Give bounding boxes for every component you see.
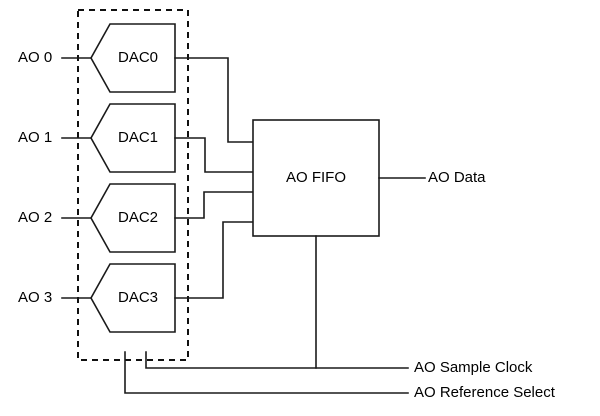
dac3-label: DAC3 (118, 289, 158, 306)
output-port-label-ao-sample-clock: AO Sample Clock (414, 359, 533, 376)
wire-dac2-to-fifo (175, 192, 253, 218)
diagram-canvas: AO 0 AO 1 AO 2 AO 3 DAC0 DAC1 DAC2 DAC3 … (0, 0, 600, 416)
input-port-label-ao2: AO 2 (18, 209, 52, 226)
dac1-label: DAC1 (118, 129, 158, 146)
dac0-label: DAC0 (118, 49, 158, 66)
input-port-label-ao1: AO 1 (18, 129, 52, 146)
output-port-label-ao-data: AO Data (428, 169, 486, 186)
dac2-label: DAC2 (118, 209, 158, 226)
input-port-label-ao3: AO 3 (18, 289, 52, 306)
output-port-label-ao-reference-select: AO Reference Select (414, 384, 556, 401)
wire-dac3-to-fifo (175, 222, 253, 298)
wire-reference-select-bus (125, 352, 408, 393)
wire-dac1-to-fifo (175, 138, 253, 172)
ao-fifo-label: AO FIFO (286, 169, 346, 186)
input-port-label-ao0: AO 0 (18, 49, 52, 66)
ao-block-diagram: AO 0 AO 1 AO 2 AO 3 DAC0 DAC1 DAC2 DAC3 … (0, 0, 600, 416)
wire-dac0-to-fifo (175, 58, 253, 142)
